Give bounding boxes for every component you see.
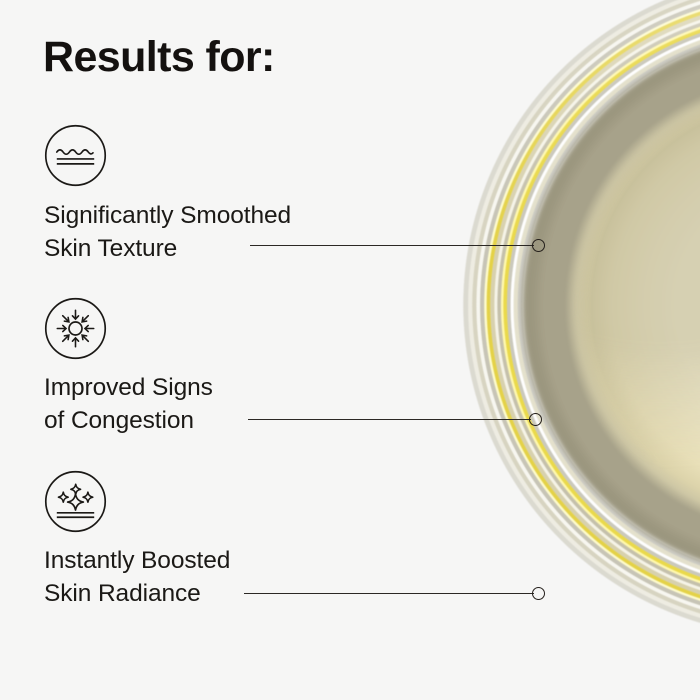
benefit-item-radiance — [44, 470, 107, 533]
benefit-label-congestion: Improved Signs of Congestion — [44, 372, 213, 437]
callout-line-congestion — [248, 419, 531, 420]
callout-dot-smoothed-texture — [532, 239, 545, 252]
benefit-item-smoothed-texture — [44, 124, 107, 187]
callout-dot-congestion — [529, 413, 542, 426]
radiance-sparkle-icon — [44, 470, 107, 533]
smooth-texture-icon — [44, 124, 107, 187]
benefit-label-radiance: Instantly Boosted Skin Radiance — [44, 545, 230, 610]
page-title: Results for: — [43, 35, 275, 80]
callout-line-radiance — [244, 593, 534, 594]
congestion-arrows-icon — [44, 297, 107, 360]
benefit-item-congestion — [44, 297, 107, 360]
results-infographic: Results for: Significantly Smoothed Skin… — [0, 0, 700, 700]
callout-line-smoothed-texture — [250, 245, 534, 246]
benefit-label-smoothed-texture: Significantly Smoothed Skin Texture — [44, 200, 291, 265]
callout-dot-radiance — [532, 587, 545, 600]
